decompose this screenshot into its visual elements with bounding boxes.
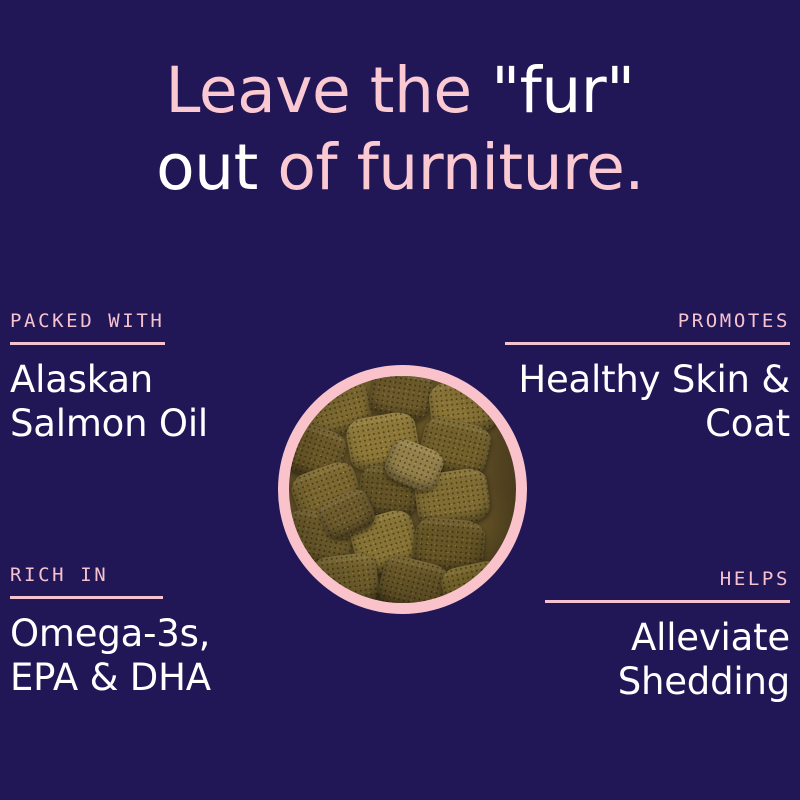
feature-body-line-2: Salmon Oil — [10, 402, 310, 446]
feature-eyebrow-label: PROMOTES — [470, 312, 790, 331]
kibble-photo — [289, 376, 516, 603]
headline-line-1: Leave the "fur" — [0, 52, 800, 129]
feature-body-line-1: Alleviate — [470, 616, 790, 660]
feature-body-line-1: Omega-3s, — [10, 612, 310, 656]
kibble-piece — [309, 552, 381, 603]
feature-body-line-2: Coat — [470, 402, 790, 446]
feature-body-text: Omega-3s, EPA & DHA — [10, 612, 310, 700]
headline-line-2: out of furniture. — [0, 129, 800, 206]
feature-body-text: Healthy Skin & Coat — [470, 358, 790, 446]
feature-promotes: PROMOTES Healthy Skin & Coat — [470, 312, 790, 446]
feature-body-text: Alleviate Shedding — [470, 616, 790, 704]
feature-body-line-1: Healthy Skin & — [470, 358, 790, 402]
headline-line-2-part-1: out — [156, 131, 258, 204]
feature-divider-rule — [10, 596, 163, 599]
feature-packed-with: PACKED WITH Alaskan Salmon Oil — [10, 312, 310, 446]
feature-body-text: Alaskan Salmon Oil — [10, 358, 310, 446]
feature-body-line-2: EPA & DHA — [10, 656, 310, 700]
headline-line-1-part-2: "fur" — [491, 54, 634, 127]
feature-body-line-1: Alaskan — [10, 358, 310, 402]
feature-divider-rule — [10, 342, 165, 345]
headline-line-1-part-1: Leave the — [165, 54, 491, 127]
feature-divider-rule — [545, 600, 790, 603]
feature-eyebrow-label: RICH IN — [10, 566, 310, 585]
kibble-photo-ring — [278, 365, 527, 614]
feature-body-line-2: Shedding — [470, 660, 790, 704]
feature-rich-in: RICH IN Omega-3s, EPA & DHA — [10, 566, 310, 700]
feature-eyebrow-label: PACKED WITH — [10, 312, 310, 331]
headline-line-2-part-2: of furniture. — [258, 131, 644, 204]
feature-divider-rule — [505, 342, 790, 345]
feature-helps: HELPS Alleviate Shedding — [470, 570, 790, 704]
page-title: Leave the "fur" out of furniture. — [0, 52, 800, 206]
poster-canvas: Leave the "fur" out of furniture. PACKED… — [0, 0, 800, 800]
feature-eyebrow-label: HELPS — [470, 570, 790, 589]
